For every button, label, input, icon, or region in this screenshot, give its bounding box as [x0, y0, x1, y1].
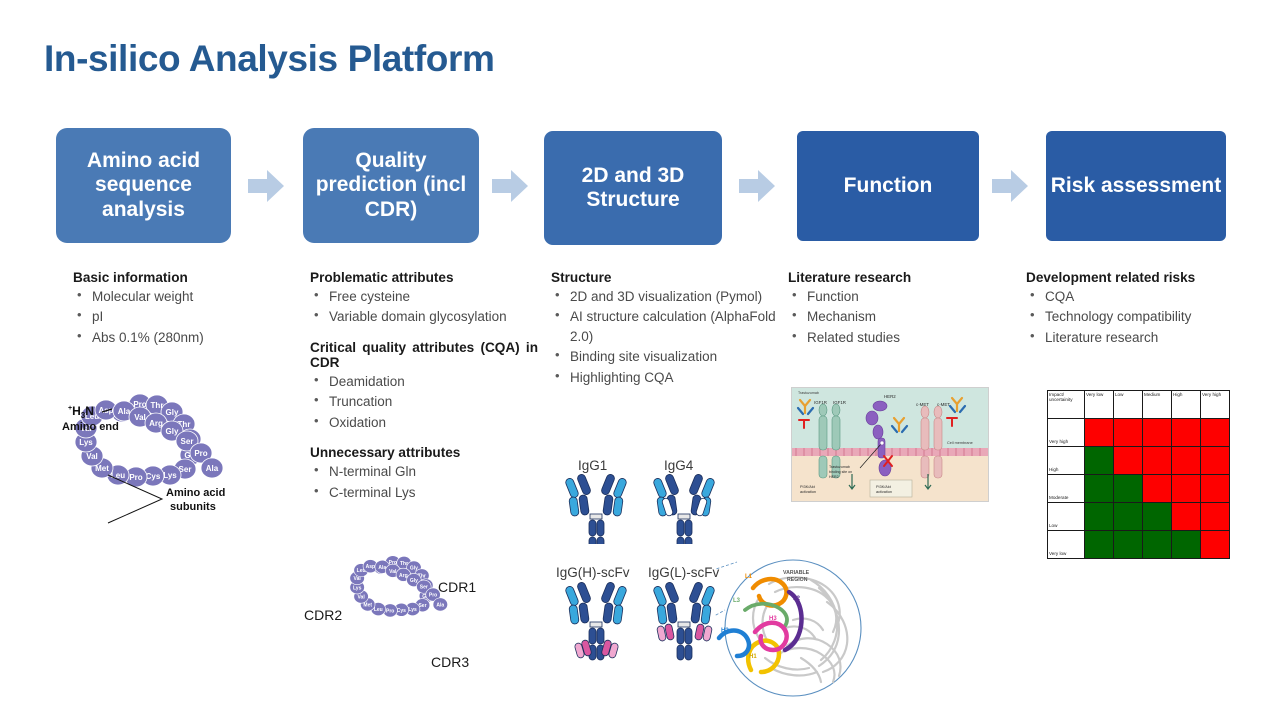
risk-matrix-header-row: Impact/ uncertainity Very low Low Medium…: [1048, 391, 1230, 419]
her2-signaling-diagram: Trastuzumab IGF1R IGF1R HER2 c-MET c-MET…: [791, 387, 989, 502]
flow-arrow-right-icon: [737, 166, 777, 206]
list-item: Binding site visualization: [551, 347, 776, 366]
svg-text:Asp: Asp: [366, 564, 375, 570]
variable-region-structure-inset: L1 L2 L3 H1 H2 H3 VARIABLE REGION: [715, 558, 871, 698]
risk-matrix-row: Very high: [1048, 419, 1230, 447]
risk-matrix-cell-green: [1114, 531, 1143, 559]
svg-text:HER2: HER2: [829, 475, 839, 479]
detail-list: N-terminal Gln C-terminal Lys: [310, 462, 538, 502]
signal-label-pi3k-center: PI3K/Akt: [876, 485, 892, 489]
svg-text:Val: Val: [358, 595, 366, 601]
risk-matrix-col-header: Very high: [1201, 391, 1230, 419]
flow-step-function[interactable]: Function: [797, 131, 979, 241]
detail-block: Unnecessary attributes N-terminal Gln C-…: [310, 445, 538, 502]
callout-label: Amino acid: [166, 487, 225, 499]
svg-text:Val: Val: [86, 452, 98, 461]
svg-text:Gly: Gly: [410, 578, 418, 584]
list-item: Variable domain glycosylation: [310, 307, 538, 326]
list-item: Related studies: [788, 328, 1003, 347]
svg-text:activation: activation: [876, 490, 892, 494]
page-title: In-silico Analysis Platform: [44, 38, 494, 80]
svg-text:Ala: Ala: [436, 602, 444, 608]
svg-text:Leu: Leu: [374, 607, 383, 613]
svg-text:Ser: Ser: [181, 437, 194, 446]
risk-matrix-col-header: Medium: [1143, 391, 1172, 419]
svg-text:Leu: Leu: [111, 471, 125, 480]
risk-matrix-cell-red: [1172, 447, 1201, 475]
risk-matrix-col-header: Very low: [1085, 391, 1114, 419]
list-item: Truncation: [310, 392, 538, 411]
detail-list: Deamidation Truncation Oxidation: [310, 372, 538, 432]
signal-label-igf1r: IGF1R: [814, 400, 827, 405]
flow-arrow-right-icon: [490, 166, 530, 206]
risk-matrix-cell-red: [1143, 475, 1172, 503]
risk-matrix-cell-red: [1114, 447, 1143, 475]
list-item: Mechanism: [788, 307, 1003, 326]
flow-arrow-right-icon: [990, 166, 1030, 206]
antibody-diagram-igg1: [556, 470, 636, 544]
svg-text:Met: Met: [95, 464, 109, 473]
risk-matrix-cell-red: [1143, 447, 1172, 475]
risk-matrix-row-header: Moderate: [1048, 475, 1085, 503]
detail-column-basic-information: Basic information Molecular weight pI Ab…: [73, 270, 288, 360]
risk-assessment-matrix: Impact/ uncertainity Very low Low Medium…: [1047, 390, 1230, 559]
detail-block: Critical quality attributes (CQA) in CDR…: [310, 340, 538, 432]
risk-matrix-cell-red: [1201, 447, 1230, 475]
signal-label-igf1r: IGF1R: [833, 400, 846, 405]
list-item: Molecular weight: [73, 287, 288, 306]
amino-terminus-label: +H3N: [68, 404, 94, 420]
risk-matrix-row: Low: [1048, 503, 1230, 531]
risk-matrix-cell-red: [1143, 419, 1172, 447]
list-item: Oxidation: [310, 413, 538, 432]
svg-text:Pro: Pro: [194, 449, 207, 458]
flow-step-quality-prediction[interactable]: Quality prediction (incl CDR): [303, 128, 479, 243]
svg-text:Cys: Cys: [397, 608, 406, 614]
flow-arrow-right-icon: [246, 166, 286, 206]
risk-matrix-cell-red: [1085, 419, 1114, 447]
detail-block: Structure 2D and 3D visualization (Pymol…: [551, 270, 776, 387]
loop-label-h1: H1: [749, 654, 757, 660]
risk-matrix-row: Very low: [1048, 531, 1230, 559]
signal-label-trastuzumab: Trastuzumab: [798, 391, 819, 395]
svg-text:Met: Met: [363, 602, 372, 608]
cdr-chain-diagram: GlyProThrGlyThrGlyGluSerLysCysProLeuMetV…: [298, 545, 508, 700]
svg-text:Ala: Ala: [206, 464, 219, 473]
svg-text:Val: Val: [134, 413, 146, 422]
svg-text:Pro: Pro: [386, 608, 394, 614]
svg-text:Pro: Pro: [429, 593, 437, 599]
risk-matrix-cell-red: [1114, 419, 1143, 447]
detail-heading: Critical quality attributes (CQA) in CDR: [310, 340, 538, 370]
detail-block: Problematic attributes Free cysteine Var…: [310, 270, 538, 327]
signal-label-binding-site: Trastuzumab: [829, 465, 850, 469]
risk-matrix-row: Moderate: [1048, 475, 1230, 503]
antibody-diagram-igg4: [644, 470, 724, 544]
list-item: AI structure calculation (AlphaFold 2.0): [551, 307, 776, 346]
risk-matrix-cell-red: [1172, 475, 1201, 503]
detail-column-literature-research: Literature research Function Mechanism R…: [788, 270, 1003, 360]
list-item: Literature research: [1026, 328, 1251, 347]
antibody-diagram-igg-h-scfv: [556, 578, 636, 662]
risk-matrix-cell-green: [1085, 475, 1114, 503]
svg-text:Ser: Ser: [420, 585, 428, 591]
risk-matrix-row-header: Very high: [1048, 419, 1085, 447]
list-item: Highlighting CQA: [551, 368, 776, 387]
list-item: pI: [73, 307, 288, 326]
detail-heading: Structure: [551, 270, 776, 285]
amino-acid-chain-diagram: GlyProThrGlyThrGlyGluSerLysCysProLeuMetV…: [50, 368, 240, 593]
svg-text:Arg: Arg: [399, 573, 408, 579]
loop-label-h3: H3: [769, 616, 777, 622]
risk-matrix-row-header: High: [1048, 447, 1085, 475]
svg-text:Lys: Lys: [79, 438, 93, 447]
risk-matrix-cell-green: [1085, 447, 1114, 475]
detail-block: Development related risks CQA Technology…: [1026, 270, 1251, 347]
risk-matrix-col-header: High: [1172, 391, 1201, 419]
risk-matrix-cell-green: [1143, 531, 1172, 559]
risk-matrix-cell-red: [1201, 531, 1230, 559]
cdr3-label: CDR3: [431, 654, 469, 670]
detail-heading: Basic information: [73, 270, 288, 285]
svg-text:Gly: Gly: [166, 427, 179, 436]
detail-heading: Problematic attributes: [310, 270, 538, 285]
list-item: Abs 0.1% (280nm): [73, 328, 288, 347]
detail-list: CQA Technology compatibility Literature …: [1026, 287, 1251, 347]
list-item: Deamidation: [310, 372, 538, 391]
cdr2-label: CDR2: [304, 607, 342, 623]
svg-text:Pro: Pro: [129, 473, 142, 482]
amino-end-label: Amino end: [62, 421, 119, 433]
risk-matrix-row: High: [1048, 447, 1230, 475]
detail-list: 2D and 3D visualization (Pymol) AI struc…: [551, 287, 776, 387]
amino-acid-residue: Ala: [201, 458, 223, 478]
svg-text:Ala: Ala: [378, 565, 386, 571]
list-item: C-terminal Lys: [310, 483, 538, 502]
svg-text:REGION: REGION: [787, 577, 808, 583]
svg-text:Gly: Gly: [166, 408, 179, 417]
loop-label-l2: L2: [793, 596, 801, 602]
detail-column-development-related-risks: Development related risks CQA Technology…: [1026, 270, 1251, 360]
risk-matrix-row-header: Very low: [1048, 531, 1085, 559]
flow-step-2d-and-3d-structure[interactable]: 2D and 3D Structure: [544, 131, 722, 245]
detail-list: Molecular weight pI Abs 0.1% (280nm): [73, 287, 288, 347]
risk-matrix-cell-red: [1172, 503, 1201, 531]
risk-matrix-cell-green: [1114, 475, 1143, 503]
detail-column-quality-prediction: Problematic attributes Free cysteine Var…: [310, 270, 538, 515]
svg-text:Lys: Lys: [408, 607, 417, 613]
risk-matrix-corner-label: Impact/ uncertainity: [1048, 391, 1085, 419]
risk-matrix-cell-green: [1085, 503, 1114, 531]
detail-heading: Literature research: [788, 270, 1003, 285]
signal-label-pi3k-left: PI3K/Akt: [800, 485, 816, 489]
detail-block: Basic information Molecular weight pI Ab…: [73, 270, 288, 347]
detail-list: Free cysteine Variable domain glycosylat…: [310, 287, 538, 327]
flow-step-amino-acid-sequence-analysis[interactable]: Amino acid sequence analysis: [56, 128, 231, 243]
loop-label-l1: L1: [745, 574, 753, 580]
risk-matrix-cell-red: [1201, 419, 1230, 447]
cdr1-label: CDR1: [438, 579, 476, 595]
cdr-residue: Ala: [433, 598, 448, 611]
risk-matrix-cell-green: [1172, 531, 1201, 559]
risk-matrix-cell-red: [1201, 503, 1230, 531]
risk-matrix-row-header: Low: [1048, 503, 1085, 531]
svg-text:activation: activation: [800, 490, 816, 494]
detail-column-structure: Structure 2D and 3D visualization (Pymol…: [551, 270, 776, 400]
risk-matrix-cell-green: [1143, 503, 1172, 531]
loop-label-l3: L3: [733, 598, 741, 604]
list-item: Free cysteine: [310, 287, 538, 306]
svg-text:binding site on: binding site on: [829, 470, 852, 474]
risk-matrix-col-header: Low: [1114, 391, 1143, 419]
signal-label-cell-membrane: Cell membrane: [947, 441, 973, 445]
structure-inset-title: VARIABLE: [783, 570, 810, 576]
risk-matrix-cell-green: [1114, 503, 1143, 531]
svg-text:Ala: Ala: [118, 407, 131, 416]
detail-heading: Development related risks: [1026, 270, 1251, 285]
detail-block: Literature research Function Mechanism R…: [788, 270, 1003, 347]
list-item: CQA: [1026, 287, 1251, 306]
flow-step-risk-assessment[interactable]: Risk assessment: [1046, 131, 1226, 241]
svg-text:Lys: Lys: [353, 585, 362, 591]
antibody-diagram-igg-l-scfv: [644, 578, 724, 662]
signal-label-cmet: c-MET: [916, 402, 929, 407]
svg-text:Arg: Arg: [149, 419, 163, 428]
risk-matrix-cell-red: [1201, 475, 1230, 503]
svg-text:Cys: Cys: [146, 472, 161, 481]
risk-matrix-table: Impact/ uncertainity Very low Low Medium…: [1047, 390, 1230, 559]
list-item: N-terminal Gln: [310, 462, 538, 481]
svg-text:Lys: Lys: [163, 471, 177, 480]
list-item: 2D and 3D visualization (Pymol): [551, 287, 776, 306]
signal-label-her2: HER2: [884, 394, 896, 399]
risk-matrix-cell-red: [1172, 419, 1201, 447]
risk-matrix-cell-green: [1085, 531, 1114, 559]
signal-label-cmet: c-MET: [937, 402, 950, 407]
loop-label-h2: H2: [721, 628, 729, 634]
detail-heading: Unnecessary attributes: [310, 445, 538, 460]
svg-text:subunits: subunits: [170, 501, 216, 513]
detail-list: Function Mechanism Related studies: [788, 287, 1003, 347]
list-item: Technology compatibility: [1026, 307, 1251, 326]
list-item: Function: [788, 287, 1003, 306]
